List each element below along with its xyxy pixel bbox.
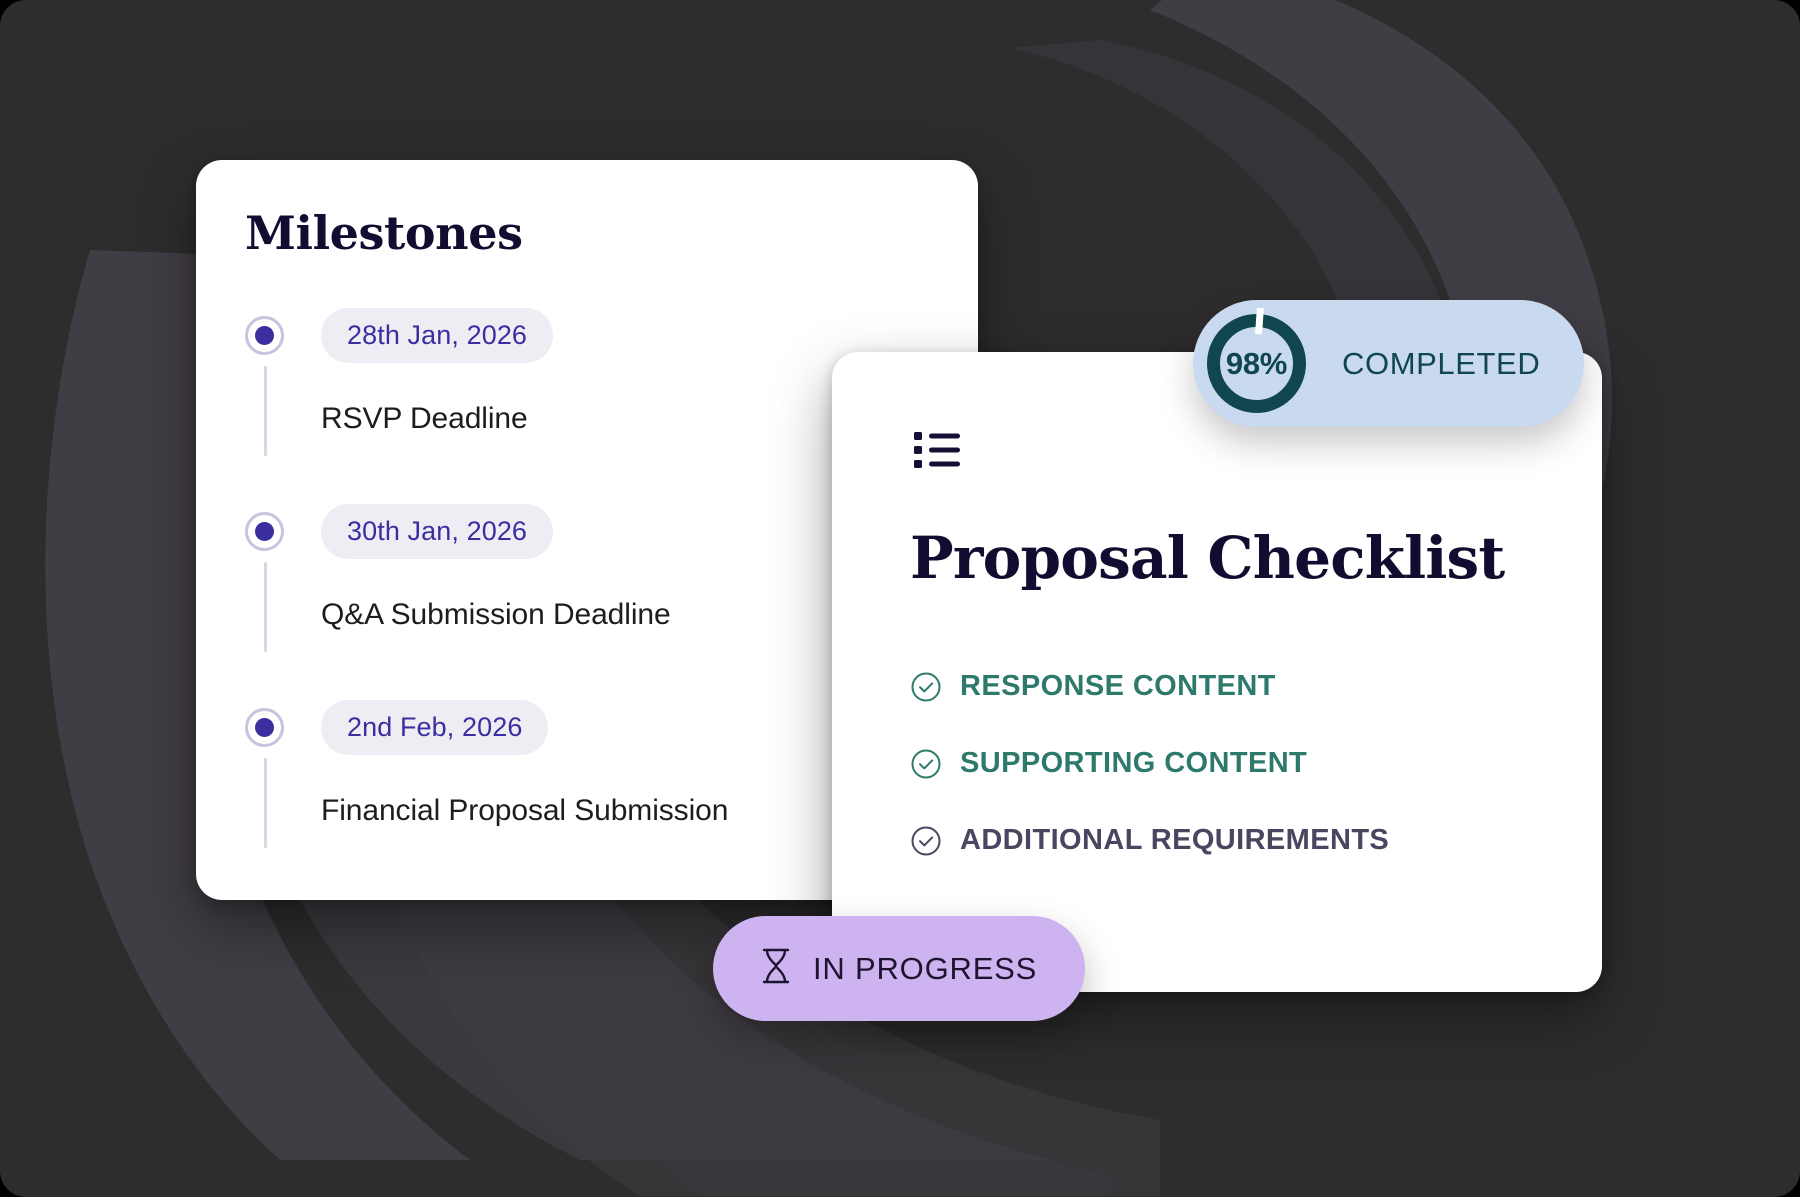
timeline-connector	[264, 562, 267, 652]
check-circle-icon	[910, 671, 942, 703]
timeline-dot-icon	[245, 316, 284, 355]
timeline-dot-icon	[245, 512, 284, 551]
milestone-label: Financial Proposal Submission	[321, 794, 728, 828]
proposal-checklist-title: Proposal Checklist	[910, 524, 1504, 592]
milestones-title: Milestones	[245, 206, 523, 260]
timeline-connector	[264, 366, 267, 456]
milestone-date-badge: 30th Jan, 2026	[321, 504, 553, 559]
donut-progress-icon: 98%	[1193, 300, 1320, 427]
milestone-label: RSVP Deadline	[321, 402, 528, 436]
milestone-date-badge: 28th Jan, 2026	[321, 308, 553, 363]
checklist-item[interactable]: ADDITIONAL REQUIREMENTS	[910, 802, 1582, 879]
checklist-item-label: RESPONSE CONTENT	[960, 670, 1276, 703]
completed-status-badge[interactable]: 98% COMPLETED	[1193, 300, 1584, 427]
milestone-date-badge: 2nd Feb, 2026	[321, 700, 548, 755]
progress-percent-value: 98%	[1193, 300, 1320, 427]
check-circle-icon	[910, 825, 942, 857]
bullet-list-icon	[914, 430, 960, 475]
milestone-label: Q&A Submission Deadline	[321, 598, 671, 632]
app-canvas: Milestones 28th Jan, 2026 RSVP Deadline …	[0, 0, 1800, 1197]
timeline-dot-icon	[245, 708, 284, 747]
in-progress-status-label: IN PROGRESS	[813, 951, 1037, 987]
checklist-item-label: ADDITIONAL REQUIREMENTS	[960, 824, 1389, 857]
in-progress-status-badge[interactable]: IN PROGRESS	[713, 916, 1085, 1021]
hourglass-icon	[761, 947, 791, 990]
timeline-connector	[264, 758, 267, 848]
checklist-item[interactable]: SUPPORTING CONTENT	[910, 725, 1582, 802]
proposal-checklist-card: Proposal Checklist RESPONSE CONTENT	[832, 352, 1602, 992]
checklist-item[interactable]: RESPONSE CONTENT	[910, 648, 1582, 725]
checklist-items: RESPONSE CONTENT SUPPORTING CONTENT	[910, 648, 1582, 879]
completed-status-label: COMPLETED	[1342, 346, 1540, 382]
check-circle-icon	[910, 748, 942, 780]
checklist-item-label: SUPPORTING CONTENT	[960, 747, 1307, 780]
